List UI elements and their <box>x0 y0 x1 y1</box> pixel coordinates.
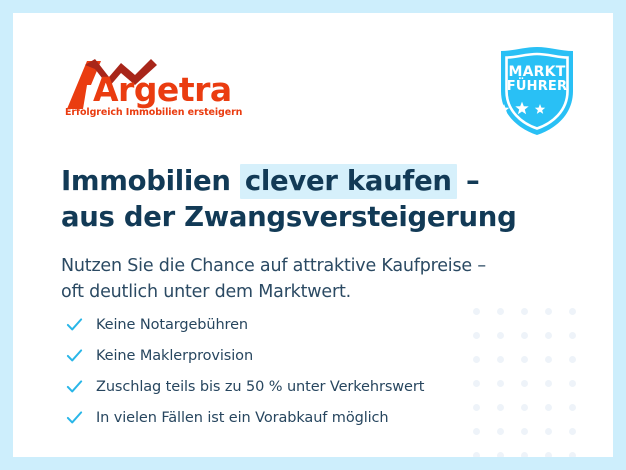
subheading-line-2: oft deutlich unter dem Marktwert. <box>61 279 581 306</box>
dot <box>569 404 576 411</box>
check-icon <box>65 408 84 427</box>
argetra-logo[interactable]: Argetra Erfolgreich Immobilien ersteiger… <box>61 55 261 127</box>
check-icon <box>65 346 84 365</box>
benefits-list: Keine NotargebührenKeine Maklerprovision… <box>65 309 535 433</box>
dot <box>473 452 480 457</box>
logo-tagline: Erfolgreich Immobilien ersteigern <box>65 107 242 118</box>
list-item-label: Keine Maklerprovision <box>96 348 253 364</box>
headline-highlight: clever kaufen <box>240 164 457 199</box>
promo-card: Argetra Erfolgreich Immobilien ersteiger… <box>13 13 613 457</box>
shield-badge-icon <box>495 45 579 137</box>
list-item: Zuschlag teils bis zu 50 % unter Verkehr… <box>65 371 535 402</box>
outer-frame: Argetra Erfolgreich Immobilien ersteiger… <box>0 0 626 470</box>
dot <box>545 452 552 457</box>
dot <box>545 356 552 363</box>
dot <box>569 452 576 457</box>
dot <box>569 380 576 387</box>
headline-text-before: Immobilien <box>61 165 240 197</box>
dot <box>545 308 552 315</box>
dot <box>569 356 576 363</box>
list-item-label: Keine Notargebühren <box>96 317 248 333</box>
headline-line-2: aus der Zwangsversteigerung <box>61 200 561 236</box>
dot <box>569 332 576 339</box>
dot <box>545 380 552 387</box>
list-item-label: In vielen Fällen ist ein Vorabkauf mögli… <box>96 410 389 426</box>
dot <box>545 332 552 339</box>
subheading: Nutzen Sie die Chance auf attraktive Kau… <box>61 253 581 306</box>
page-title: Immobilien clever kaufen – aus der Zwang… <box>61 164 561 236</box>
check-icon <box>65 377 84 396</box>
list-item: In vielen Fällen ist ein Vorabkauf mögli… <box>65 402 535 433</box>
dot <box>521 452 528 457</box>
markt-fuehrer-badge: MARKT FÜHRER <box>495 45 579 137</box>
list-item: Keine Maklerprovision <box>65 340 535 371</box>
headline-text-after: – <box>457 165 480 197</box>
dot <box>569 308 576 315</box>
dot <box>569 428 576 435</box>
dot-grid-row <box>473 452 595 457</box>
dot <box>545 428 552 435</box>
check-icon <box>65 315 84 334</box>
headline-line-1: Immobilien clever kaufen – <box>61 164 561 200</box>
dot <box>497 452 504 457</box>
dot <box>545 404 552 411</box>
logo-wordmark: Argetra <box>93 73 232 106</box>
subheading-line-1: Nutzen Sie die Chance auf attraktive Kau… <box>61 253 581 280</box>
list-item-label: Zuschlag teils bis zu 50 % unter Verkehr… <box>96 379 424 395</box>
list-item: Keine Notargebühren <box>65 309 535 340</box>
